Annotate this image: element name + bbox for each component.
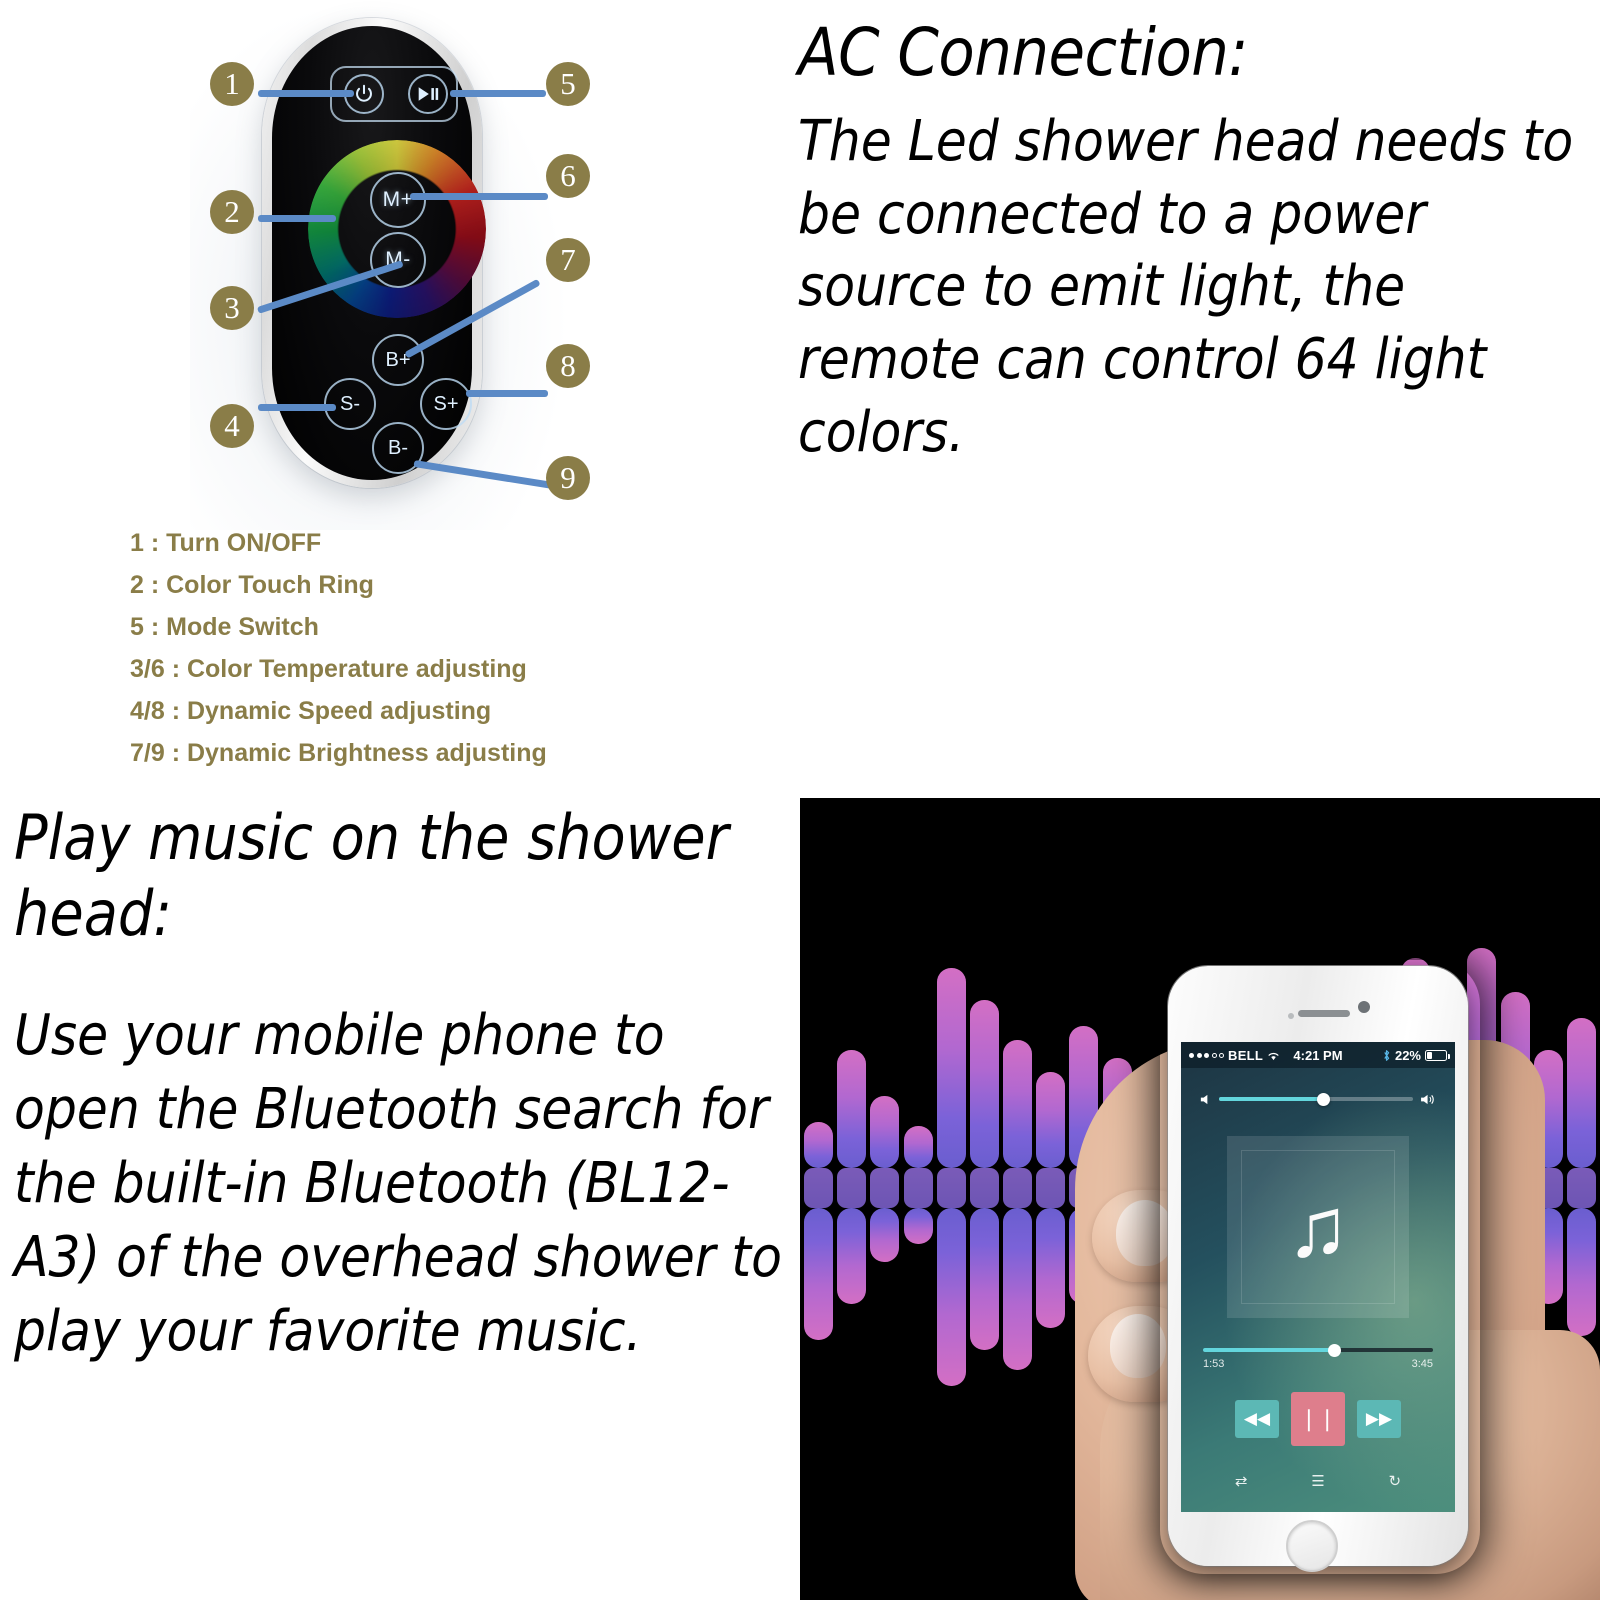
waveform-bar [937,1208,966,1386]
progress-track[interactable] [1203,1348,1433,1352]
waveform-bar [1003,1040,1032,1168]
legend-item: 1 : Turn ON/OFF [130,522,790,564]
status-bar: BELL 4:21 PM 22% [1181,1042,1455,1068]
callout-4: 4 [210,404,254,448]
waveform-bar [1036,1208,1065,1328]
callout-2-label: 2 [224,194,240,230]
front-camera [1358,1001,1370,1013]
music-note-icon: ♫ [1287,1185,1350,1269]
battery-icon [1425,1050,1447,1061]
play-music-title: Play music on the shower head: [14,800,784,951]
waveform-center-bar [1567,1168,1596,1208]
brightness-minus-label: B- [388,437,408,460]
callout-4-label: 4 [224,408,240,444]
fingernail-lower [1110,1314,1166,1378]
waveform-bar [904,1208,933,1244]
play-pause-button[interactable] [408,74,448,114]
track-progress-row[interactable]: 1:53 3:45 [1203,1348,1433,1370]
remote-illustration: M+ M- B+ S- S+ B- 1 2 3 4 5 6 7 8 9 [0,0,790,520]
callout-5: 5 [546,62,590,106]
legend-item: 2 : Color Touch Ring [130,564,790,606]
leader-line-4 [258,404,336,411]
bluetooth-icon [1382,1049,1391,1062]
waveform-center-bar [804,1168,833,1208]
play-pause-icon [417,85,439,103]
transport-controls: ◀◀ ❘❘ ▶▶ [1181,1392,1455,1446]
leader-line-8 [466,390,548,397]
waveform-bar [1567,1208,1596,1336]
waveform-center-bar [1003,1168,1032,1208]
waveform-center-bar [937,1168,966,1208]
playlist-icon[interactable]: ☰ [1311,1472,1324,1490]
speed-minus-label: S- [340,393,360,416]
progress-time-labels: 1:53 3:45 [1203,1358,1433,1370]
progress-fill [1203,1348,1334,1352]
callout-8-label: 8 [560,348,576,384]
earpiece-speaker [1298,1010,1350,1017]
callout-8: 8 [546,344,590,388]
volume-slider-track[interactable] [1219,1097,1413,1101]
callout-6-label: 6 [560,158,576,194]
leader-line-5 [450,90,546,97]
fast-forward-icon: ▶▶ [1366,1409,1392,1429]
callout-5-label: 5 [560,66,576,102]
volume-slider-fill [1219,1097,1324,1101]
legend-item: 3/6 : Color Temperature adjusting [130,648,790,690]
waveform-bar [937,968,966,1168]
waveform-bar [1003,1208,1032,1370]
waveform-bar [870,1208,899,1262]
volume-low-icon [1199,1093,1212,1106]
waveform-bar [837,1050,866,1168]
previous-button[interactable]: ◀◀ [1235,1400,1279,1438]
waveform-center-bar [1036,1168,1065,1208]
callout-7-label: 7 [560,242,576,278]
leader-line-6 [410,193,548,200]
repeat-icon[interactable]: ↻ [1389,1472,1402,1490]
next-button[interactable]: ▶▶ [1357,1400,1401,1438]
waveform-center-bar [837,1168,866,1208]
ac-connection-body: The Led shower head needs to be connecte… [798,106,1588,470]
speed-plus-label: S+ [433,393,458,416]
mode-plus-label: M+ [383,188,414,212]
waveform-center-bar [904,1168,933,1208]
callout-2: 2 [210,190,254,234]
legend-item: 4/8 : Dynamic Speed adjusting [130,690,790,732]
volume-high-icon [1420,1093,1437,1106]
phone-screen: BELL 4:21 PM 22% [1181,1042,1455,1512]
callout-6: 6 [546,154,590,198]
waveform-bar [870,1096,899,1168]
fingernail-upper [1116,1200,1174,1266]
music-photo-panel: BELL 4:21 PM 22% [800,798,1600,1600]
power-icon [353,83,375,105]
battery-percent-label: 22% [1395,1048,1421,1063]
play-pause-button[interactable]: ❘❘ [1291,1392,1345,1446]
waveform-bar [1036,1072,1065,1168]
speed-plus-button[interactable]: S+ [420,378,472,430]
waveform-bar [904,1126,933,1168]
waveform-bar [804,1122,833,1168]
waveform-center-bar [870,1168,899,1208]
brightness-plus-button[interactable]: B+ [372,334,424,386]
play-music-body: Use your mobile phone to open the Blueto… [14,999,784,1369]
waveform-bar [804,1208,833,1340]
legend-item: 7/9 : Dynamic Brightness adjusting [130,732,790,774]
leader-line-2 [258,215,336,222]
leader-line-9 [413,460,552,489]
status-right-group: 22% [1382,1048,1447,1063]
mode-minus-button[interactable]: M- [370,232,426,288]
waveform-center-bar [970,1168,999,1208]
volume-slider-knob[interactable] [1317,1093,1330,1106]
home-button-icon[interactable] [1286,1520,1338,1572]
volume-slider-row[interactable] [1199,1088,1437,1110]
album-art: ♫ [1227,1136,1409,1318]
callout-3: 3 [210,286,254,330]
callout-3-label: 3 [224,290,240,326]
mode-plus-button[interactable]: M+ [370,172,426,228]
callout-9-label: 9 [560,460,576,496]
ac-connection-section: AC Connection: The Led shower head needs… [798,14,1588,470]
callout-9: 9 [546,456,590,500]
button-legend-list: 1 : Turn ON/OFF 2 : Color Touch Ring 5 :… [130,522,790,774]
callout-1-label: 1 [224,66,240,102]
waveform-bar [837,1208,866,1304]
color-touch-ring[interactable] [308,140,486,318]
total-time-label: 3:45 [1412,1358,1433,1370]
ac-connection-title: AC Connection: [798,14,1588,92]
progress-knob[interactable] [1328,1344,1341,1357]
play-music-section: Play music on the shower head: Use your … [14,800,784,1369]
legend-item: 5 : Mode Switch [130,606,790,648]
leader-line-1 [258,90,354,97]
callout-7: 7 [546,238,590,282]
rewind-icon: ◀◀ [1244,1409,1270,1429]
shuffle-icon[interactable]: ⇄ [1235,1472,1248,1490]
waveform-bar [970,1000,999,1168]
pause-icon: ❘❘ [1300,1406,1337,1432]
player-footer-icons: ⇄ ☰ ↻ [1181,1472,1455,1490]
callout-1: 1 [210,62,254,106]
waveform-bar [970,1208,999,1350]
waveform-bar [1567,1018,1596,1168]
proximity-sensor [1288,1013,1294,1019]
elapsed-time-label: 1:53 [1203,1358,1224,1370]
